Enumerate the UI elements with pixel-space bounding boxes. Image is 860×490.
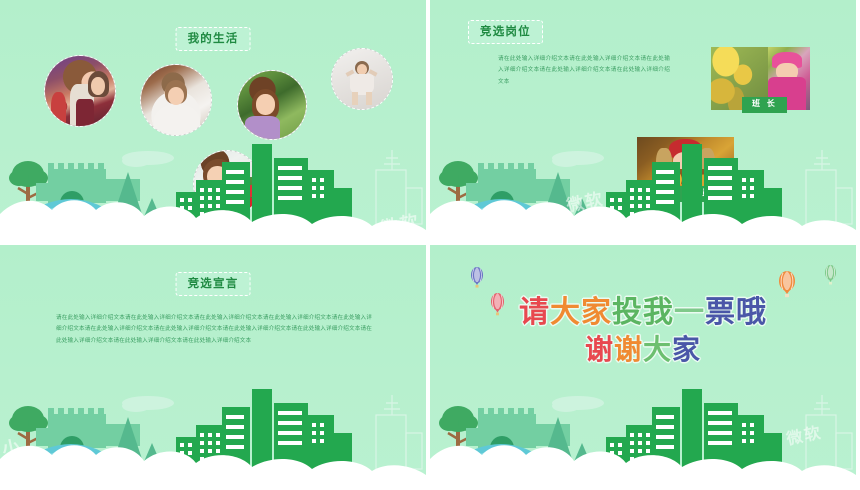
photo-girl-blowing-bubbles [45, 56, 115, 126]
photo-card-study-officer[interactable]: 学习委员 [637, 137, 734, 199]
slide-title-position: 竞选岗位 [468, 20, 543, 44]
headline-char-5: 一 [674, 297, 705, 329]
slide-deck: 我的生活 [0, 0, 860, 490]
photo-card-label-study-officer: 学习委员 [662, 186, 722, 202]
headline-char-6: 票 [705, 297, 736, 329]
watermark-slide4: 微软 [784, 419, 824, 450]
headline-char-7: 哦 [736, 297, 767, 329]
balloon-blue-icon [470, 267, 484, 289]
photo-card-label-class-monitor: 班 长 [742, 97, 787, 113]
thanks-headline-line1: 请大家投我一票哦 [430, 297, 856, 329]
watermark-slide1: 微软 [378, 207, 423, 241]
slide-position: 竞选岗位 请在此处输入详细介绍文本请在此处输入详细介绍文本请在此处输入详细介绍文… [430, 0, 856, 241]
position-body-text: 请在此处输入详细介绍文本请在此处输入详细介绍文本请在此处输入详细介绍文本请在此处… [498, 54, 670, 88]
thanks-headline-line2: 谢谢大家 [430, 335, 856, 366]
slide-my-life: 我的生活 [0, 0, 426, 241]
headline-char-0: 谢 [585, 335, 614, 366]
headline-char-3: 家 [672, 335, 701, 366]
slide-title-text: 竞选岗位 [480, 24, 531, 38]
photo-girl-sitting-sketch [332, 49, 392, 109]
declaration-body-text: 请在此处输入详细介绍文本请在此处输入详细介绍文本请在此处输入详细介绍文本请在此处… [56, 313, 372, 347]
photo-circle-girl-sitting-sketch[interactable] [331, 48, 393, 110]
headline-char-2: 大 [643, 335, 672, 366]
headline-char-0: 请 [519, 297, 550, 329]
headline-char-1: 谢 [614, 335, 643, 366]
photo-card-class-monitor[interactable]: 班 长 [711, 47, 810, 110]
headline-char-3: 投 [612, 297, 643, 329]
photo-girl-in-lace-dress [141, 65, 211, 135]
slide-title-declaration: 竞选宣言 [176, 272, 251, 296]
headline-char-2: 家 [581, 297, 612, 329]
photo-girl-resting-on-grass [238, 71, 306, 139]
slide-title-text: 我的生活 [188, 31, 239, 45]
balloon-orange-icon [778, 271, 796, 299]
headline-char-4: 我 [643, 297, 674, 329]
photo-circle-girl-with-red-tulips[interactable] [193, 150, 261, 218]
photo-girl-with-red-tulips [194, 151, 260, 217]
watermark-slide2: 微软 [564, 184, 606, 216]
slide-thanks: 请大家投我一票哦 谢谢大家 [430, 245, 856, 486]
scenery-graphic-slide3 [0, 381, 426, 486]
photo-circle-girl-resting-on-grass[interactable] [237, 70, 307, 140]
scenery-graphic-slide4 [430, 381, 856, 486]
slide-declaration: 竞选宣言 请在此处输入详细介绍文本请在此处输入详细介绍文本请在此处输入详细介绍文… [0, 245, 426, 486]
photo-circle-girl-in-lace-dress[interactable] [140, 64, 212, 136]
photo-circle-girl-blowing-bubbles[interactable] [44, 55, 116, 127]
watermark-slide3: 小 [0, 432, 24, 462]
headline-char-1: 大 [550, 297, 581, 329]
slide-title-text: 竞选宣言 [188, 276, 239, 290]
thanks-headline: 请大家投我一票哦 谢谢大家 [430, 297, 856, 366]
balloon-green-icon [824, 265, 837, 286]
slide-title-my-life: 我的生活 [176, 27, 251, 51]
